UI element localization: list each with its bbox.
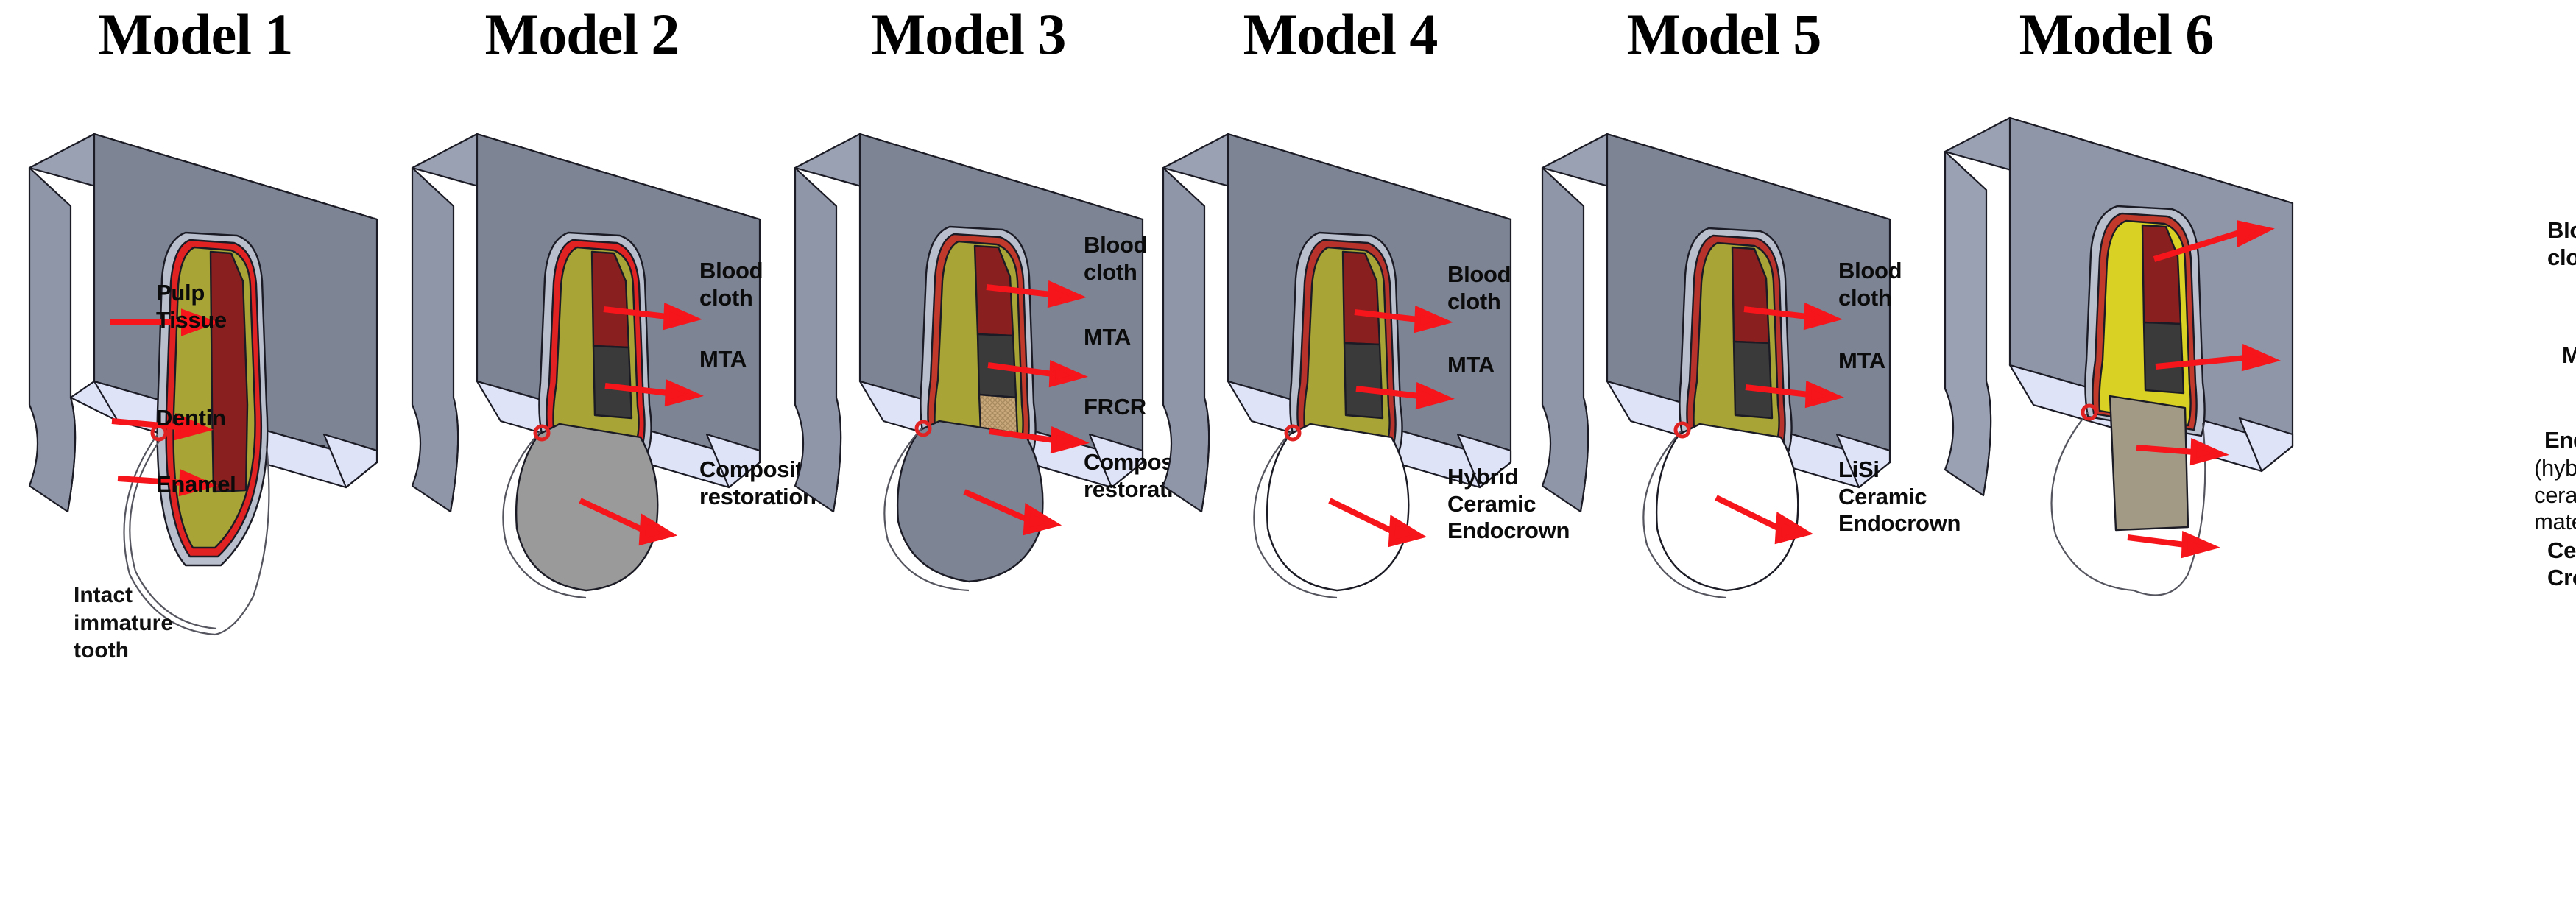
panel-title: Model 5	[1513, 6, 1942, 63]
panel-model-6: Model 6	[1899, 0, 2576, 904]
label-enamel: Enamel	[156, 471, 236, 498]
label-mta: MTA	[699, 346, 747, 373]
panel-model-3: Model 3	[766, 0, 1195, 904]
panel-model-1: Model 1	[0, 0, 429, 904]
panel-model-2: Model 2	[383, 0, 812, 904]
label-mta: MTA	[1838, 347, 1885, 375]
tooth-diagram-model-2	[383, 88, 812, 751]
panel-model-5: Model 5	[1513, 0, 1942, 904]
panel-title: Model 3	[766, 6, 1195, 63]
label-blood-cloth: Blood cloth	[2547, 217, 2576, 271]
label-mta: MTA	[2562, 342, 2576, 370]
panel-title: Model 6	[1899, 6, 2329, 63]
label-blood-cloth: Blood cloth	[699, 258, 763, 311]
tooth-diagram-model-6	[1899, 88, 2329, 751]
tooth-diagram-model-5	[1513, 88, 1942, 751]
panel-model-4: Model 4	[1134, 0, 1563, 904]
label-mta: MTA	[1447, 352, 1495, 379]
panel-title: Model 4	[1134, 6, 1563, 63]
label-ceramic-crown: Ceramic Crown	[2547, 537, 2576, 591]
panel-title: Model 1	[0, 6, 429, 63]
label-endocore-description: (hybrid ceramic material)	[2534, 455, 2576, 536]
tooth-diagram-model-4	[1134, 88, 1563, 751]
label-blood-cloth: Blood cloth	[1447, 261, 1511, 315]
label-dentin: Dentin	[156, 405, 226, 432]
label-blood-cloth: Blood cloth	[1838, 258, 1902, 311]
label-endocore: Endocore	[2544, 427, 2576, 454]
panel-title: Model 2	[383, 6, 812, 63]
label-pulp-tissue: Pulp Tissue	[156, 280, 227, 333]
caption-intact-immature-tooth: Intact immature tooth	[74, 582, 173, 665]
label-mta: MTA	[1084, 324, 1131, 351]
